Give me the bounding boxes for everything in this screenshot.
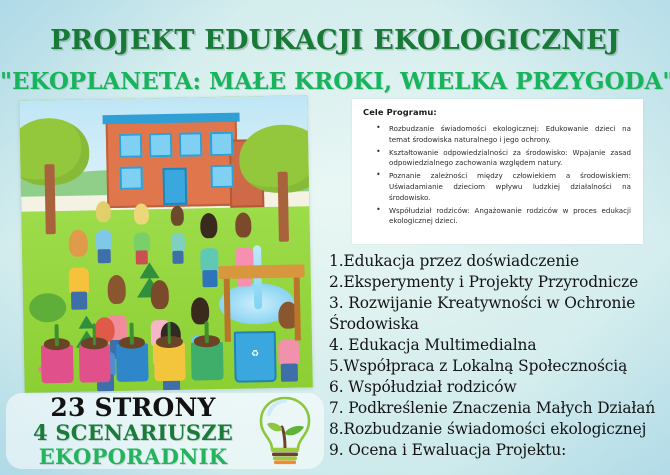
goal-item: Współudział rodziców: Angażowanie rodzic… bbox=[389, 206, 631, 227]
child-hair bbox=[191, 297, 210, 325]
goal-item: Kształtowanie odpowiedzialności za środo… bbox=[389, 148, 631, 169]
badge-ekoporadnik: EKOPORADNIK bbox=[14, 445, 252, 469]
planter bbox=[79, 344, 111, 383]
planter bbox=[191, 342, 223, 381]
planter bbox=[116, 344, 148, 383]
window bbox=[119, 166, 142, 190]
tree-trunk bbox=[278, 172, 290, 242]
children-eco-schoolyard-illustration: ♻ bbox=[19, 95, 313, 392]
desk-leg bbox=[224, 278, 231, 342]
child-hair bbox=[69, 229, 88, 257]
child-body bbox=[133, 232, 149, 252]
badge-pages-count: 23 STRONY bbox=[14, 394, 252, 421]
poster-root: PROJEKT EDUKACJI EKOLOGICZNEJ "EKOPLANET… bbox=[0, 0, 670, 475]
child-legs bbox=[135, 251, 148, 265]
goal-item: Rozbudzanie świadomości ekologicznej: Ed… bbox=[389, 124, 631, 145]
planter bbox=[154, 343, 186, 382]
window bbox=[210, 165, 233, 189]
planter bbox=[41, 345, 73, 384]
program-list-item: 6. Współudział rodziców bbox=[329, 377, 663, 398]
recycle-symbol-icon: ♻ bbox=[251, 350, 259, 359]
child-body bbox=[200, 248, 218, 272]
program-list-item: 4. Edukacja Multimedialna bbox=[329, 335, 663, 356]
window bbox=[118, 134, 141, 158]
tree-crown bbox=[239, 124, 313, 193]
page-title: PROJEKT EDUKACJI EKOLOGICZNEJ bbox=[0, 25, 670, 56]
goal-item: Poznanie zależności między człowiekiem a… bbox=[389, 171, 631, 203]
child-hair bbox=[170, 205, 184, 225]
program-list-item: 3. Rozwijanie Kreatywności w Ochronie Śr… bbox=[329, 293, 663, 335]
child-figure bbox=[90, 204, 117, 263]
program-list-item: 9. Ocena i Ewaluacja Projektu: bbox=[329, 440, 663, 461]
school-building-icon bbox=[106, 120, 238, 208]
child-hair bbox=[96, 201, 111, 222]
goals-list: Rozbudzanie świadomości ekologicznej: Ed… bbox=[363, 124, 633, 227]
program-activities-list: 1.Edukacja przez doświadczenie 2.Ekspery… bbox=[329, 251, 663, 461]
program-list-item: 8.Rozbudzanie świadomości ekologicznej bbox=[329, 419, 663, 440]
badge-scenarios-count: 4 SCENARIUSZE bbox=[14, 421, 252, 445]
lightbulb-plant-icon bbox=[252, 394, 318, 468]
child-figure bbox=[165, 209, 189, 265]
child-hair bbox=[200, 213, 217, 239]
child-legs bbox=[203, 270, 218, 287]
child-legs bbox=[71, 292, 87, 311]
child-body bbox=[96, 230, 112, 250]
child-hair bbox=[150, 280, 169, 309]
program-list-item: 5.Współpraca z Lokalną Społecznością bbox=[329, 356, 663, 377]
page-subtitle: "EKOPLANETA: MAŁE KROKI, WIELKA PRZYGODA… bbox=[0, 68, 670, 95]
tree-icon bbox=[19, 117, 91, 235]
school-door bbox=[162, 168, 187, 205]
desk-top bbox=[218, 265, 305, 279]
child-legs bbox=[172, 251, 184, 265]
tree-trunk bbox=[44, 164, 55, 234]
sprout bbox=[167, 322, 171, 344]
window bbox=[149, 133, 172, 157]
badge-text-block: 23 STRONY 4 SCENARIUSZE EKOPORADNIK bbox=[14, 394, 252, 469]
craft-desk bbox=[218, 265, 306, 343]
child-body bbox=[69, 267, 89, 293]
child-legs bbox=[98, 249, 111, 263]
goals-heading: Cele Programu: bbox=[363, 107, 633, 117]
window bbox=[179, 132, 202, 156]
child-hair bbox=[133, 203, 148, 224]
sprout bbox=[130, 323, 134, 345]
tree-crown bbox=[19, 117, 90, 186]
sprout bbox=[55, 325, 59, 347]
roof-line bbox=[103, 113, 240, 125]
desk-leg bbox=[294, 277, 301, 341]
program-list-item: 7. Podkreślenie Znaczenia Małych Działań bbox=[329, 398, 663, 419]
program-list-item: 1.Edukacja przez doświadczenie bbox=[329, 251, 663, 272]
child-figure bbox=[62, 234, 95, 311]
child-hair bbox=[235, 212, 252, 238]
program-goals-card: Cele Programu: Rozbudzanie świadomości e… bbox=[352, 99, 643, 244]
sprout bbox=[204, 322, 208, 344]
program-list-item: 2.Eksperymenty i Projekty Przyrodnicze bbox=[329, 272, 663, 293]
child-figure bbox=[128, 206, 155, 265]
child-legs bbox=[281, 363, 299, 382]
child-hair bbox=[107, 275, 126, 304]
window bbox=[210, 132, 233, 156]
child-body bbox=[170, 233, 185, 252]
child-body bbox=[278, 339, 300, 365]
